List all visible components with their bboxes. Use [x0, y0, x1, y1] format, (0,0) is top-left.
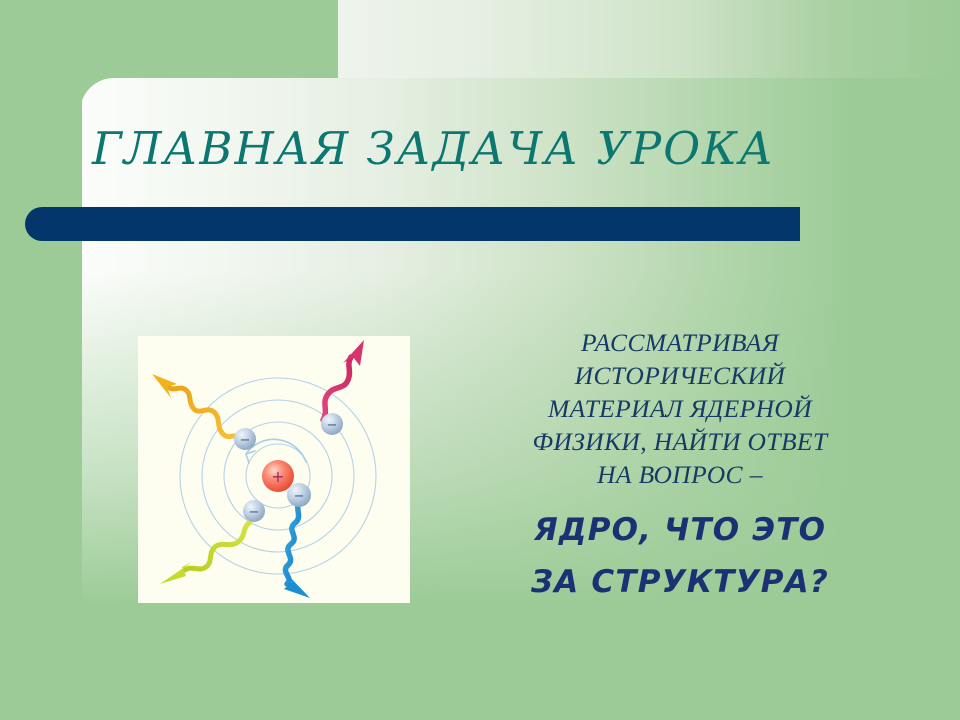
ray-upper-left-arrowhead — [152, 374, 177, 398]
objective-line-4: ФИЗИКИ, НАЙТИ ОТВЕТ — [470, 425, 890, 458]
question-line-1: ЯДРО, ЧТО ЭТО — [470, 504, 890, 556]
svg-text:−: − — [249, 505, 260, 520]
objective-line-3: МАТЕРИАЛ ЯДЕРНОЙ — [470, 392, 890, 425]
objective-line-2: ИСТОРИЧЕСКИЙ — [470, 359, 890, 392]
ray-upper-right-arrowhead — [343, 340, 364, 366]
ray-upper-left — [168, 387, 242, 439]
lesson-objective-text: РАССМАТРИВАЯ ИСТОРИЧЕСКИЙ МАТЕРИАЛ ЯДЕРН… — [470, 326, 890, 608]
svg-text:−: − — [294, 489, 305, 504]
background-left-green-strip — [0, 80, 82, 720]
page-title: ГЛАВНАЯ ЗАДАЧА УРОКА — [92, 122, 792, 175]
nucleus-charge-label: + — [271, 467, 284, 486]
objective-line-5: НА ВОПРОС – — [470, 458, 890, 491]
ray-upper-right — [323, 357, 351, 420]
background-top-green-block — [0, 0, 338, 80]
question-line-2: ЗА СТРУКТУРА? — [470, 556, 890, 608]
svg-text:−: − — [327, 418, 338, 433]
electron-3: − — [243, 500, 265, 522]
objective-statement: РАССМАТРИВАЯ ИСТОРИЧЕСКИЙ МАТЕРИАЛ ЯДЕРН… — [470, 326, 890, 491]
slide-root: ГЛАВНАЯ ЗАДАЧА УРОКА — [0, 0, 960, 720]
background-top-gradient-band — [337, 0, 960, 80]
atom-illustration: + − − − − — [138, 336, 410, 603]
svg-text:−: − — [240, 433, 251, 448]
ray-lower-left-arrowhead — [160, 562, 192, 584]
ray-lower-left — [185, 522, 250, 570]
objective-line-1: РАССМАТРИВАЯ — [470, 326, 890, 359]
title-divider-bar — [25, 207, 800, 241]
electron-1: − — [234, 428, 256, 450]
electron-4: − — [287, 483, 311, 507]
objective-question: ЯДРО, ЧТО ЭТО ЗА СТРУКТУРА? — [470, 504, 890, 608]
electron-2: − — [321, 413, 343, 435]
